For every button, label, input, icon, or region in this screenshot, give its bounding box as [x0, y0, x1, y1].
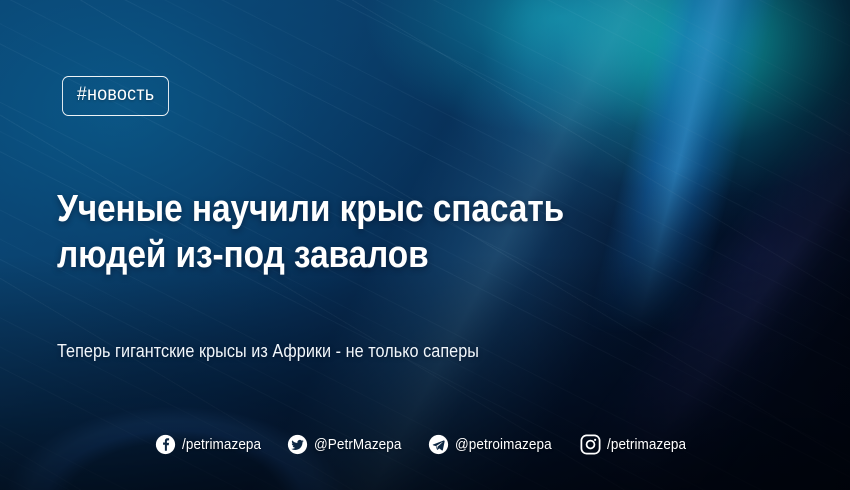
social-link-instagram[interactable]: /petrimazepa	[580, 434, 695, 455]
social-handle-facebook: /petrimazepa	[182, 436, 261, 453]
page-title: Ученые научили крыс спасать людей из-под…	[57, 186, 594, 278]
social-links-bar: /petrimazepa @PetrMazepa @petroimazepa	[0, 434, 850, 455]
social-handle-telegram: @petroimazepa	[455, 436, 552, 453]
news-card: #новость Ученые научили крыс спасать люд…	[0, 0, 850, 490]
social-link-telegram[interactable]: @petroimazepa	[428, 434, 562, 455]
social-link-facebook[interactable]: /petrimazepa	[155, 434, 270, 455]
card-content: #новость Ученые научили крыс спасать люд…	[0, 0, 850, 490]
twitter-icon	[287, 434, 308, 455]
social-link-twitter[interactable]: @PetrMazepa	[287, 434, 411, 455]
subtitle: Теперь гигантские крысы из Африки - не т…	[57, 341, 479, 362]
tag-badge[interactable]: #новость	[62, 76, 169, 116]
instagram-icon	[580, 434, 601, 455]
telegram-icon	[428, 434, 449, 455]
social-handle-instagram: /petrimazepa	[607, 436, 686, 453]
social-handle-twitter: @PetrMazepa	[314, 436, 401, 453]
facebook-icon	[155, 434, 176, 455]
